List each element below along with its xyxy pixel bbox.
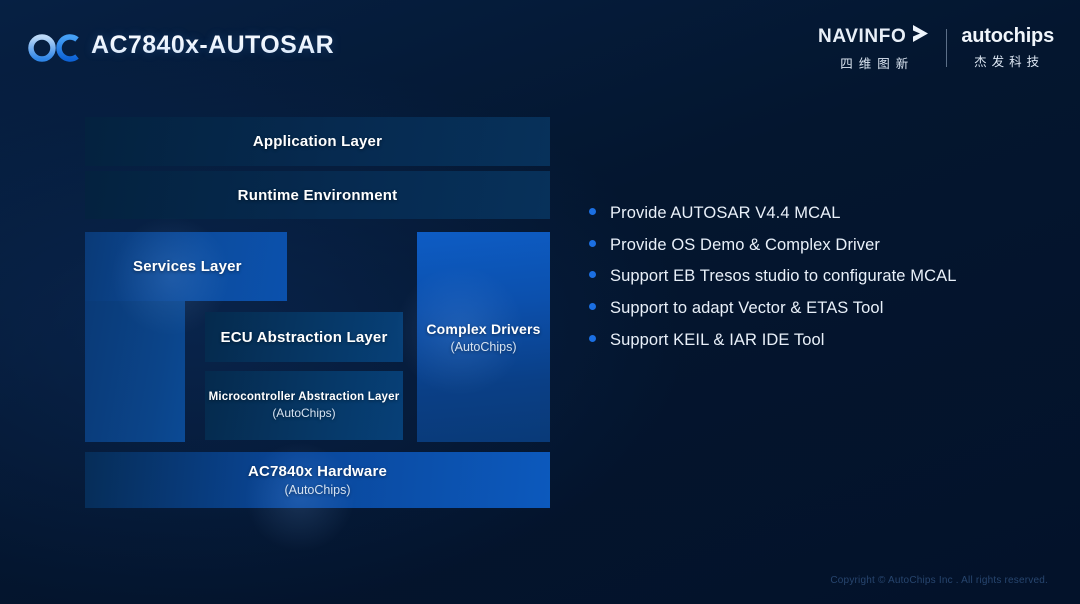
list-item: Support KEIL & IAR IDE Tool (589, 330, 1019, 351)
bullet-dot-icon (589, 335, 596, 342)
diagram-block-mcal: Microcontroller Abstraction Layer (AutoC… (205, 371, 403, 440)
glow-spot (245, 442, 355, 552)
bullet-dot-icon (589, 240, 596, 247)
block-title: AC7840x Hardware (248, 463, 387, 480)
block-title: ECU Abstraction Layer (220, 329, 387, 346)
list-item: Support EB Tresos studio to configurate … (589, 266, 1019, 287)
list-item-label: Provide OS Demo & Complex Driver (610, 235, 880, 256)
block-title: Complex Drivers (426, 321, 540, 337)
list-item-label: Support KEIL & IAR IDE Tool (610, 330, 825, 351)
diagram-block-ac7840x-hardware: AC7840x Hardware (AutoChips) (85, 452, 550, 508)
block-title: Microcontroller Abstraction Layer (209, 391, 400, 403)
block-title: Application Layer (253, 133, 382, 150)
slide-canvas: AC7840x-AUTOSAR NAVINFO 四维图新 autochips 杰… (0, 0, 1080, 604)
block-title: Services Layer (133, 258, 242, 275)
feature-bullet-list: Provide AUTOSAR V4.4 MCAL Provide OS Dem… (589, 203, 1019, 361)
footer-copyright: Copyright © AutoChips Inc . All rights r… (830, 575, 1048, 586)
block-subtitle: (AutoChips) (285, 483, 351, 497)
diagram-block-complex-drivers: Complex Drivers (AutoChips) (417, 232, 550, 442)
diagram-block-services-layer-stem (85, 299, 185, 442)
list-item-label: Support EB Tresos studio to configurate … (610, 266, 957, 287)
diagram-block-runtime-environment: Runtime Environment (85, 171, 550, 219)
block-title: Runtime Environment (238, 187, 398, 204)
bullet-dot-icon (589, 303, 596, 310)
list-item-label: Support to adapt Vector & ETAS Tool (610, 298, 883, 319)
list-item: Provide OS Demo & Complex Driver (589, 235, 1019, 256)
diagram-block-services-layer: Services Layer (85, 232, 287, 301)
list-item: Provide AUTOSAR V4.4 MCAL (589, 203, 1019, 224)
block-subtitle: (AutoChips) (451, 340, 517, 354)
list-item-label: Provide AUTOSAR V4.4 MCAL (610, 203, 841, 224)
bullet-dot-icon (589, 208, 596, 215)
block-subtitle: (AutoChips) (272, 406, 335, 420)
diagram-block-ecu-abstraction-layer: ECU Abstraction Layer (205, 312, 403, 362)
bullet-dot-icon (589, 271, 596, 278)
list-item: Support to adapt Vector & ETAS Tool (589, 298, 1019, 319)
diagram-block-application-layer: Application Layer (85, 117, 550, 166)
